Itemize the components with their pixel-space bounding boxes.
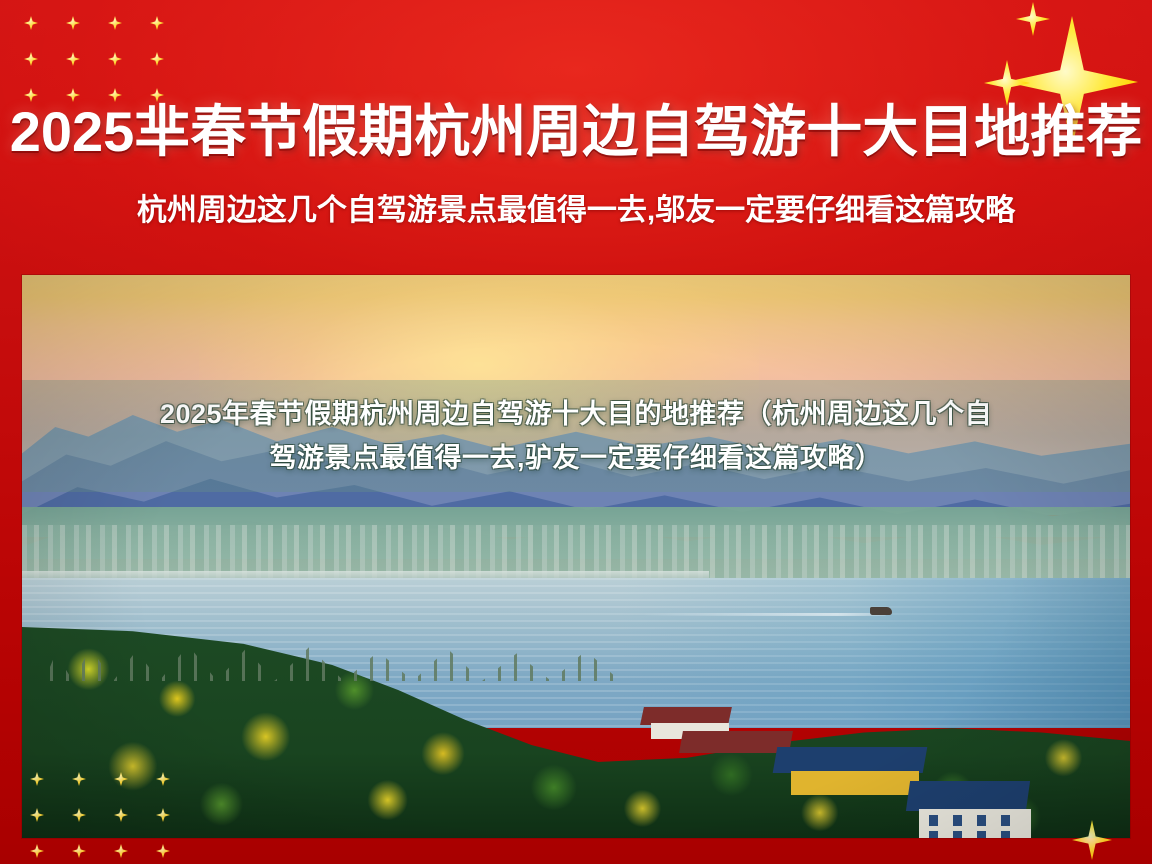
diamond-icon — [72, 772, 86, 786]
diamond-icon — [108, 16, 122, 30]
photo-scene: 2025年春节假期杭州周边自驾游十大目的地推荐（杭州周边这几个自 驾游景点最值得… — [22, 275, 1130, 838]
window — [953, 831, 962, 838]
window — [953, 815, 962, 826]
diamond-icon — [30, 772, 44, 786]
photo-caption: 2025年春节假期杭州周边自驾游十大目的地推荐（杭州周边这几个自 驾游景点最值得… — [56, 392, 1096, 480]
diamond-icon — [72, 844, 86, 858]
diamond-icon — [114, 844, 128, 858]
diamond-icon — [30, 808, 44, 822]
diamond-grid-top-left — [24, 16, 164, 102]
window — [1001, 831, 1010, 838]
diamond-icon — [66, 16, 80, 30]
window — [977, 831, 986, 838]
diamond-icon — [150, 52, 164, 66]
diamond-icon — [156, 772, 170, 786]
diamond-icon — [108, 52, 122, 66]
diamond-icon — [156, 844, 170, 858]
window — [929, 815, 938, 826]
window — [1001, 815, 1010, 826]
poster-headline: 2025芈春节假期杭州周边自驾游十大目地推荐 — [0, 101, 1152, 163]
house-wall-yellow — [791, 771, 919, 795]
poster-subheadline: 杭州周边这几个自驾游景点最值得一去,邬友一定要仔细看这篇攻略 — [0, 192, 1152, 230]
poster-canvas: 2025芈春节假期杭州周边自驾游十大目地推荐 杭州周边这几个自驾游景点最值得一去… — [0, 0, 1152, 864]
boat — [870, 607, 892, 615]
sparkle-star-icon — [1016, 2, 1050, 36]
deep-water-area — [620, 578, 1130, 728]
house-wall-white — [919, 809, 1031, 838]
boat-wake — [642, 613, 886, 616]
photo-caption-line-2: 驾游景点最值得一去,驴友一定要仔细看这篇攻略） — [56, 436, 1096, 480]
diamond-icon — [30, 844, 44, 858]
diamond-icon — [114, 808, 128, 822]
diamond-icon — [24, 52, 38, 66]
diamond-icon — [72, 808, 86, 822]
window — [977, 815, 986, 826]
diamond-icon — [24, 16, 38, 30]
diamond-icon — [66, 52, 80, 66]
house-roof-blue — [906, 781, 1030, 811]
photo-caption-line-1: 2025年春节假期杭州周边自驾游十大目的地推荐（杭州周边这几个自 — [56, 392, 1096, 436]
diamond-icon — [156, 808, 170, 822]
house-roof-blue — [773, 747, 928, 773]
hero-photo: 2025年春节假期杭州周边自驾游十大目的地推荐（杭州周边这几个自 驾游景点最值得… — [22, 275, 1130, 838]
window — [929, 831, 938, 838]
diamond-icon — [114, 772, 128, 786]
diamond-grid-bottom-left — [30, 772, 170, 858]
diamond-icon — [150, 16, 164, 30]
photo-caption-band: 2025年春节假期杭州周边自驾游十大目的地推荐（杭州周边这几个自 驾游景点最值得… — [22, 380, 1130, 492]
